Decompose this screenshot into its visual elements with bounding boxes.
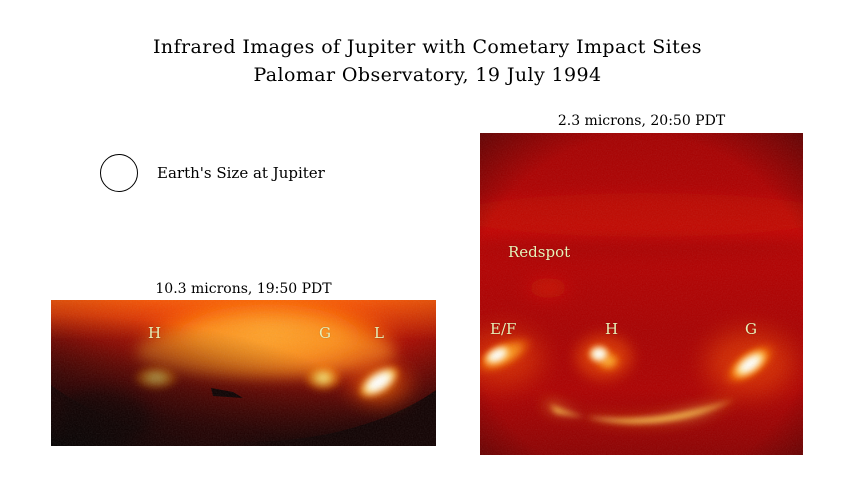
right-panel-caption: 2.3 microns, 20:50 PDT (480, 113, 803, 129)
marker-label-g-left: G (319, 324, 331, 342)
infrared-image-10p3-microns: H G L (51, 300, 436, 446)
marker-label-redspot: Redspot (508, 243, 570, 261)
marker-label-l-left: L (374, 324, 384, 342)
earth-size-legend-label: Earth's Size at Jupiter (157, 164, 325, 182)
figure-page: Infrared Images of Jupiter with Cometary… (0, 0, 855, 499)
left-panel-image (51, 300, 436, 446)
earth-size-circle-icon (100, 154, 138, 192)
marker-label-ef-right: E/F (490, 320, 516, 338)
right-panel-image (480, 133, 803, 455)
marker-label-h-left: H (148, 324, 161, 342)
page-title: Infrared Images of Jupiter with Cometary… (0, 33, 855, 89)
left-panel-caption: 10.3 microns, 19:50 PDT (51, 281, 436, 297)
infrared-image-2p3-microns: Redspot E/F H G (480, 133, 803, 455)
title-line-2: Palomar Observatory, 19 July 1994 (0, 61, 855, 89)
marker-label-g-right: G (745, 320, 757, 338)
marker-label-h-right: H (605, 320, 618, 338)
title-line-1: Infrared Images of Jupiter with Cometary… (0, 33, 855, 61)
